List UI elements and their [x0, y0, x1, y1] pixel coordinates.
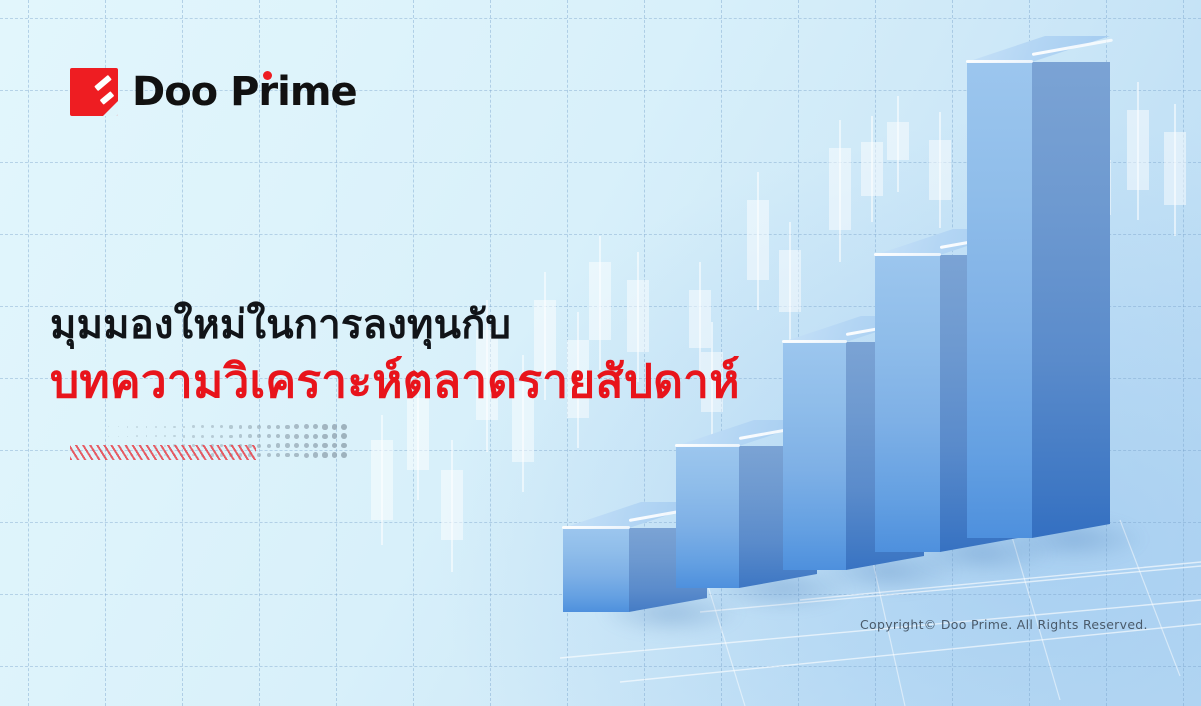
decorative-dot	[304, 443, 309, 448]
decorative-dot	[332, 452, 338, 458]
brand-name: Doo Prime	[132, 69, 357, 115]
headline-line-1: มุมมองใหม่ในการลงทุนกับ	[50, 300, 810, 351]
decorative-dot	[248, 425, 252, 429]
decorative-dot	[276, 434, 280, 438]
headline-decoration	[70, 424, 370, 464]
decorative-dot	[285, 443, 290, 448]
decorative-dot	[304, 424, 309, 429]
brand-logo[interactable]: Doo Prime	[70, 68, 357, 116]
decorative-dot	[239, 425, 243, 429]
decorative-dot	[257, 425, 261, 429]
decorative-dot	[257, 434, 261, 438]
decorative-dot	[294, 424, 299, 429]
decorative-dot	[322, 452, 327, 457]
decorative-dot	[229, 435, 232, 438]
bar-5	[967, 62, 1032, 538]
logo-slash-upper-icon	[94, 75, 112, 91]
decorative-dot	[118, 426, 119, 427]
decorative-dot	[276, 453, 280, 457]
decorative-dot	[164, 426, 166, 428]
decorative-dot	[276, 425, 280, 429]
decorative-dot	[239, 434, 243, 438]
decorative-dot	[257, 444, 261, 448]
decorative-dot	[173, 426, 175, 428]
decorative-dot	[118, 436, 119, 437]
decorative-dot	[127, 436, 128, 437]
bar-1	[563, 528, 629, 612]
decorative-dot	[136, 435, 138, 437]
decorative-dot	[267, 453, 271, 457]
decorative-dot	[322, 434, 327, 439]
decorative-dot	[155, 426, 157, 428]
decorative-dot	[146, 426, 148, 428]
bar-side-face	[1032, 62, 1110, 558]
bar-front-face	[875, 255, 940, 552]
decorative-dot	[146, 435, 148, 437]
decorative-dot	[304, 453, 309, 458]
decorative-dot	[341, 452, 347, 458]
bar-front-face	[563, 528, 629, 612]
decorative-dot	[155, 435, 157, 437]
decorative-dot	[313, 434, 318, 439]
decorative-dot	[322, 424, 327, 429]
decorative-dot	[220, 425, 223, 428]
bar-4	[875, 255, 940, 552]
bar-top-highlight	[675, 444, 740, 447]
bar-2	[676, 446, 739, 588]
decorative-dot	[201, 425, 204, 428]
decorative-dot	[183, 435, 186, 438]
bar-top-highlight	[562, 526, 630, 529]
doo-prime-logo-mark-icon	[70, 68, 118, 116]
decorative-dot	[294, 434, 299, 439]
logo-i-dot-icon	[263, 71, 272, 80]
decorative-dot	[267, 444, 271, 448]
decorative-dot	[229, 425, 232, 428]
decorative-dot	[267, 434, 271, 438]
decorative-dot	[192, 435, 195, 438]
decorative-dot	[341, 443, 347, 449]
decorative-dot	[294, 453, 299, 458]
decorative-dot	[313, 452, 318, 457]
decorative-dot	[285, 453, 290, 458]
decorative-dot	[332, 424, 338, 430]
decorative-dot	[341, 424, 347, 430]
bar-front-face	[967, 62, 1032, 538]
decorative-dot	[304, 434, 309, 439]
decorative-dot	[248, 434, 252, 438]
decorative-dot	[341, 433, 347, 439]
decorative-dot	[127, 426, 128, 427]
decorative-dot	[313, 424, 318, 429]
decorative-dot	[108, 436, 109, 437]
decorative-dot	[257, 453, 261, 457]
decorative-dot	[108, 426, 109, 427]
decorative-dot	[211, 435, 214, 438]
copyright-notice: Copyright© Doo Prime. All Rights Reserve…	[860, 617, 1148, 632]
decorative-dot	[220, 435, 223, 438]
decorative-dot	[276, 443, 280, 447]
decorative-dot	[173, 435, 175, 437]
poster-canvas: Doo Prime มุมมองใหม่ในการลงทุนกับ บทความ…	[0, 0, 1201, 706]
decorative-dot	[332, 433, 338, 439]
decorative-dot	[285, 425, 290, 430]
decorative-dot	[294, 443, 299, 448]
decorative-dot	[201, 435, 204, 438]
bar-top-highlight	[966, 60, 1033, 63]
decorative-dot	[285, 434, 290, 439]
decorative-dot	[183, 426, 186, 429]
logo-slash-lower-icon	[100, 91, 115, 105]
decorative-dot	[211, 425, 214, 428]
decorative-dot	[192, 425, 195, 428]
headline-block: มุมมองใหม่ในการลงทุนกับ บทความวิเคราะห์ต…	[50, 300, 810, 411]
decorative-red-stripes	[70, 445, 256, 460]
headline-line-2: บทความวิเคราะห์ตลาดรายสัปดาห์	[50, 353, 810, 411]
bar-top-highlight	[874, 253, 941, 256]
decorative-dot	[313, 443, 318, 448]
decorative-dot	[136, 426, 138, 428]
decorative-dot	[267, 425, 271, 429]
decorative-dot	[332, 443, 338, 449]
brand-name-text: Doo Prime	[132, 69, 357, 115]
decorative-dot	[322, 443, 327, 448]
decorative-dot	[164, 435, 166, 437]
bar-front-face	[676, 446, 739, 588]
